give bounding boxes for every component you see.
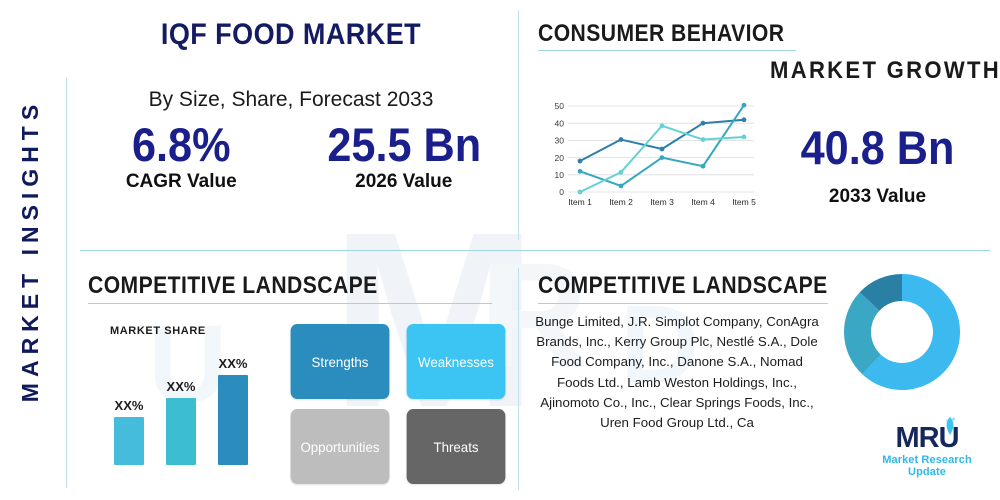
- divider-vertical-mid-top: [518, 10, 519, 240]
- bar: [114, 417, 144, 465]
- data-point: [742, 135, 747, 140]
- line-chart-svg: 01020304050 Item 1Item 2Item 3Item 4Item…: [542, 100, 757, 212]
- y-tick-label: 40: [555, 118, 565, 128]
- stat-2026-value: 25.5 Bn: [301, 120, 506, 169]
- brand-logo: MRU Market Research Update: [862, 424, 992, 480]
- stat-cagr-value: 6.8%: [79, 120, 284, 169]
- swot-box-label: Weaknesses: [418, 354, 494, 370]
- swot-box-label: Strengths: [312, 354, 369, 370]
- y-tick-label: 10: [555, 170, 565, 180]
- market-growth-label: 2033 Value: [770, 186, 985, 208]
- swot-grid: StrengthsWeaknessesOpportunitiesThreats: [288, 324, 508, 484]
- bar-chart-svg: XX%XX%XX%: [100, 335, 260, 480]
- line-chart-x-tick-labels: Item 1Item 2Item 3Item 4Item 5: [568, 197, 756, 207]
- headline-stats: 6.8% CAGR Value 25.5 Bn 2026 Value: [70, 120, 515, 193]
- data-point: [742, 103, 747, 108]
- x-tick-label: Item 1: [568, 197, 592, 207]
- data-point: [701, 121, 706, 126]
- section-heading-underline-consumer: [538, 50, 796, 51]
- x-tick-label: Item 4: [691, 197, 715, 207]
- market-share-donut-chart: [842, 272, 962, 392]
- data-point: [742, 117, 747, 122]
- side-label-market-insights: MARKET INSIGHTS: [0, 0, 62, 500]
- section-heading-competitive-landscape-right: COMPETITIVE LANDSCAPE: [538, 272, 828, 300]
- data-point: [578, 169, 583, 174]
- x-tick-label: Item 5: [732, 197, 756, 207]
- bar: [166, 398, 196, 465]
- company-list: Bunge Limited, J.R. Simplot Company, Con…: [532, 312, 822, 433]
- y-tick-label: 20: [555, 153, 565, 163]
- y-tick-label: 0: [559, 187, 564, 197]
- bar-data-label: XX%: [219, 356, 248, 371]
- stat-2026-label: 2026 Value: [293, 171, 516, 193]
- section-heading-consumer-behavior: CONSUMER BEHAVIOR: [538, 20, 784, 48]
- consumer-behavior-line-chart: 01020304050 Item 1Item 2Item 3Item 4Item…: [542, 100, 757, 212]
- line-series-series-2: [580, 105, 744, 186]
- infographic-canvas: M R U D MARKET INSIGHTS IQF FOOD MARKET …: [0, 0, 1000, 500]
- logo-tagline: Market Research Update: [862, 454, 992, 478]
- data-point: [619, 137, 624, 142]
- y-tick-label: 50: [555, 101, 565, 111]
- logo-mark-text: MRU: [895, 424, 958, 453]
- stat-cagr: 6.8% CAGR Value: [70, 120, 293, 193]
- swot-box-opportunities[interactable]: Opportunities: [291, 409, 390, 484]
- donut-chart-svg: [842, 272, 962, 392]
- market-growth-value: 40.8 Bn: [779, 120, 977, 175]
- x-tick-label: Item 3: [650, 197, 674, 207]
- data-point: [660, 123, 665, 128]
- section-heading-market-growth: MARKET GROWTH: [770, 57, 1000, 85]
- divider-horizontal-main: [80, 250, 990, 251]
- side-label-text: MARKET INSIGHTS: [18, 98, 45, 401]
- swot-box-label: Threats: [433, 439, 478, 455]
- data-point: [701, 137, 706, 142]
- swot-box-threats[interactable]: Threats: [407, 409, 506, 484]
- swot-box-weaknesses[interactable]: Weaknesses: [407, 324, 506, 399]
- swot-box-label: Opportunities: [300, 439, 379, 455]
- data-point: [619, 170, 624, 175]
- data-point: [660, 155, 665, 160]
- bar-data-label: XX%: [167, 379, 196, 394]
- section-heading-underline-left: [88, 303, 492, 304]
- data-point: [660, 147, 665, 152]
- section-heading-underline-right: [538, 303, 828, 304]
- x-tick-label: Item 2: [609, 197, 633, 207]
- line-chart-y-tick-labels: 01020304050: [555, 101, 565, 197]
- divider-vertical-mid-bottom: [518, 268, 519, 490]
- bar-data-label: XX%: [115, 398, 144, 413]
- bar: [218, 375, 248, 465]
- market-share-bar-chart: XX%XX%XX%: [100, 335, 260, 480]
- leaf-icon: [943, 416, 957, 436]
- y-tick-label: 30: [555, 136, 565, 146]
- stat-2026: 25.5 Bn 2026 Value: [293, 120, 516, 193]
- page-subtitle: By Size, Share, Forecast 2033: [66, 88, 516, 112]
- data-point: [578, 159, 583, 164]
- divider-vertical-left: [66, 78, 67, 488]
- section-heading-competitive-landscape-left: COMPETITIVE LANDSCAPE: [88, 272, 378, 300]
- data-point: [701, 164, 706, 169]
- page-title: IQF FOOD MARKET: [89, 18, 494, 52]
- line-chart-series-group: [578, 103, 747, 195]
- stat-cagr-label: CAGR Value: [70, 171, 293, 193]
- donut-segments: [844, 274, 960, 390]
- swot-box-strengths[interactable]: Strengths: [291, 324, 390, 399]
- data-point: [578, 190, 583, 195]
- data-point: [619, 184, 624, 189]
